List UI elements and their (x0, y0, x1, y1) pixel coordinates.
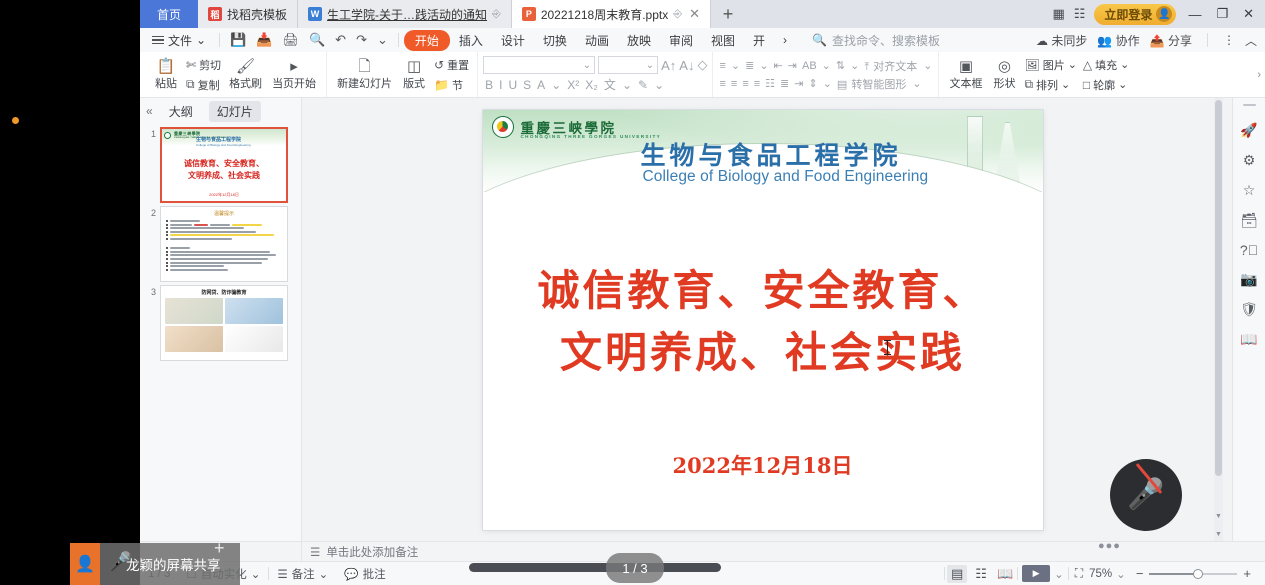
settings-sliders-icon[interactable]: ⚙ (1243, 152, 1256, 169)
tab-presentation-active[interactable]: P 20221218周末教育.pptx ⎆ ✕ (512, 0, 711, 28)
subscript-button[interactable]: X₂ (583, 78, 600, 92)
copy-button[interactable]: ⧉ 复制 (183, 76, 224, 94)
ribbon-tab-developer[interactable]: 开 (744, 30, 774, 51)
close-tab-icon[interactable]: ✕ (687, 6, 700, 22)
thumb-title: 温馨提示 (161, 210, 287, 217)
collapse-ribbon-icon[interactable]: ︿ (1245, 32, 1257, 49)
arrange-label: 排列 (1036, 77, 1058, 93)
scroll-down-arrow-icon[interactable]: ▼ (1214, 512, 1223, 521)
chevron-down-icon: ⌄ (1068, 58, 1077, 71)
divider (1207, 33, 1208, 47)
print-preview-icon[interactable]: 🔍 (304, 32, 330, 48)
close-window-button[interactable]: ✕ (1240, 6, 1257, 22)
divider (1017, 567, 1018, 580)
chevron-down-icon[interactable]: ⌄ (549, 78, 563, 92)
right-tool-rail: 🚀 ⚙ ☆ 🗃 ?⃝ 📷 🛡 📖 (1232, 98, 1265, 541)
zoom-fill (1149, 573, 1199, 575)
scissors-icon: ✄ (186, 58, 196, 72)
indent-icon[interactable]: ⇥ (793, 77, 804, 90)
decrease-indent-icon[interactable]: ⇤ (773, 59, 784, 72)
page-indicator-badge: 1 / 3 (606, 553, 664, 583)
chevron-down-icon[interactable]: ⌄ (1050, 567, 1068, 581)
tab-slides[interactable]: 幻灯片 (209, 101, 261, 122)
text-direction-icon[interactable]: AB (801, 60, 818, 72)
slide-header-banner: 重慶三峡學院 CHONGQING THREE GORGES UNIVERSITY… (483, 110, 1043, 192)
font-name-select[interactable]: ⌄ (483, 56, 595, 74)
pictures-button[interactable]: 🖼 图片 ⌄ (1021, 56, 1079, 74)
format-painter-button[interactable]: 🖌 格式刷 (224, 57, 267, 93)
start-from-current-slide-button[interactable]: ▸ 当页开始 (267, 57, 321, 93)
shield-icon[interactable]: 🛡 (1240, 301, 1258, 318)
align-text-button[interactable]: ⤒ 对齐文本 (863, 58, 919, 74)
thumb-title: 诚信教育、安全教育、文明养成、社会实践 (162, 158, 286, 182)
comment-button[interactable]: 💬 批注 (336, 566, 393, 582)
text-box-icon: ▣ (959, 59, 973, 74)
tab-home-label: 首页 (157, 6, 181, 23)
paste-button[interactable]: 📋 粘贴 (149, 57, 183, 93)
zoom-out-button[interactable]: − (1136, 566, 1144, 581)
file-menu-button[interactable]: 文件 ⌄ (140, 32, 214, 49)
sort-icon[interactable]: ⇅ (835, 59, 846, 72)
tab-label: 找稻壳模板 (227, 6, 287, 23)
university-logo-icon (164, 132, 171, 139)
superscript-button[interactable]: X² (565, 78, 581, 92)
shapes-icon: ◎ (998, 59, 1011, 74)
chevron-down-icon: ⌄ (251, 567, 261, 581)
slide-surface[interactable]: 重慶三峡學院 CHONGQING THREE GORGES UNIVERSITY… (483, 110, 1043, 530)
apps-grid-icon[interactable]: ☷ (1074, 6, 1086, 22)
thumb-image (225, 326, 283, 352)
chevron-down-icon: ⌄ (1061, 78, 1070, 91)
zoom-in-button[interactable]: + (1243, 566, 1251, 581)
text-box-button[interactable]: ▣ 文本框 (944, 57, 987, 93)
layout-icon: ◫ (407, 59, 421, 74)
slide-number: 3 (144, 285, 156, 297)
menubar-right-actions: ☁ 未同步 👥 协作 📤 分享 ⋮ ︿ (1036, 32, 1265, 49)
ribbon-overflow-icon[interactable]: › (1257, 52, 1265, 97)
save-as-icon[interactable]: 📥 (251, 32, 277, 48)
format-painter-label: 格式刷 (229, 75, 262, 91)
zoom-level-label[interactable]: 75% (1089, 568, 1112, 580)
bullet-list-icon[interactable]: ≡ (718, 60, 726, 72)
notes-placeholder: 单击此处添加备注 (326, 544, 418, 560)
ribbon-group-font: ⌄ ⌄ A↑ A↓ ◇ B I U S (477, 52, 712, 97)
reset-button[interactable]: ↺ 重置 (431, 56, 472, 74)
outline-button[interactable]: □ 轮廓 ⌄ (1080, 76, 1132, 94)
wps-presentation-window: 首页 稻 找稻壳模板 W 生工学院-关于…践活动的通知 ⎆ P 20221218… (140, 0, 1265, 585)
align-right-icon[interactable]: ≡ (741, 78, 749, 90)
distribute-icon[interactable]: ☷ (764, 77, 776, 90)
new-tab-button[interactable]: + (711, 0, 745, 28)
new-slide-button[interactable]: 🗋 新建幻灯片 (332, 57, 397, 93)
chevron-down-icon[interactable]: ⌄ (822, 77, 833, 90)
list-item[interactable]: 3 防网贷、防诈骗教育 (140, 282, 301, 361)
clear-format-icon[interactable]: ◇ (697, 57, 707, 73)
screen-share-label: 龙颖的屏幕共享 (126, 554, 221, 574)
bold-button[interactable]: B (483, 78, 495, 92)
font-size-select[interactable]: ⌄ (598, 56, 658, 74)
horizontal-scrollbar-overlay[interactable] (469, 563, 721, 572)
paste-label: 粘贴 (155, 75, 177, 91)
slide-number: 2 (144, 206, 156, 218)
section-label: 节 (452, 77, 463, 93)
ribbon-tab-transition[interactable]: 切换 (534, 30, 576, 51)
text-cursor (887, 340, 888, 355)
share-button[interactable]: 📤 分享 (1150, 32, 1192, 49)
undo-icon[interactable]: ↶ (330, 32, 351, 48)
divider (219, 33, 220, 47)
ribbon-tab-design[interactable]: 设计 (492, 30, 534, 51)
reset-label: 重置 (447, 57, 469, 73)
comment-label: 批注 (363, 566, 386, 582)
user-avatar-icon: 👤 (70, 543, 100, 585)
zoom-slider[interactable]: − + (1130, 566, 1257, 581)
chevron-down-icon[interactable]: ⌄ (849, 59, 860, 72)
cut-label: 剪切 (199, 57, 221, 73)
tab-label: 20221218周末教育.pptx (541, 6, 668, 23)
chevron-down-icon[interactable]: ⌄ (652, 78, 666, 92)
microphone-muted-icon: 🎤 (1127, 480, 1164, 510)
thumb-college-name: 生物与食品工程学院College of Biology and Food Eng… (196, 136, 251, 147)
normal-view-icon[interactable]: ▤ (947, 565, 967, 583)
next-slide-arrow-icon[interactable]: ▼ (1214, 530, 1223, 539)
work-area: « 大纲 幻灯片 1 重慶三峡學院CHONGQING THREE GORGES … (140, 98, 1265, 585)
picture-icon: 🖼 (1024, 58, 1039, 72)
divider (398, 33, 399, 47)
rail-grip[interactable] (1243, 104, 1256, 106)
reading-view-icon[interactable]: 📖 (995, 565, 1015, 583)
college-name-en: College of Biology and Food Engineering (643, 168, 929, 186)
ribbon-toolbar: 📋 粘贴 ✄ 剪切 ⧉ 复制 🖌 格式刷 (140, 52, 1265, 98)
more-options-icon[interactable]: ⋮ (1223, 33, 1235, 47)
slide-thumbnail-3[interactable]: 防网贷、防诈骗教育 (160, 285, 288, 361)
hamburger-icon (152, 34, 164, 47)
italic-button[interactable]: I (497, 78, 504, 92)
ribbon-tab-review[interactable]: 审阅 (660, 30, 702, 51)
ribbon-tab-start[interactable]: 开始 (404, 30, 450, 51)
collapse-left-icon[interactable]: « (146, 104, 153, 118)
ribbon-group-paragraph: ≡ ⌄ ≣ ⌄ ⇤ ⇥ AB ⌄ ⇅ ⌄ ⤒ 对齐文本 ⌄ ≡ (712, 52, 938, 97)
ribbon-tab-insert[interactable]: 插入 (450, 30, 492, 51)
highlight-icon[interactable]: ✎ (636, 78, 650, 92)
slide-thumbnail-pane: « 大纲 幻灯片 1 重慶三峡學院CHONGQING THREE GORGES … (140, 98, 302, 541)
college-name-cn: 生物与食品工程学院 (641, 136, 902, 172)
status-bar-right: ▤ ☷ 📖 ▶ ⌄ ⛶ 75% ⌄ − (944, 565, 1265, 583)
thumbnail-pane-header: « 大纲 幻灯片 (140, 98, 301, 124)
chevron-down-icon: ⌄ (583, 60, 591, 71)
ribbon-group-clipboard: 📋 粘贴 ✄ 剪切 ⧉ 复制 🖌 格式刷 (144, 52, 326, 97)
reset-icon: ↺ (434, 58, 444, 72)
slide-number: 1 (144, 127, 156, 139)
maximize-button[interactable]: ❐ (1213, 6, 1231, 22)
split-view-icon[interactable]: ▦ (1052, 6, 1064, 22)
font-color-button[interactable]: A (535, 78, 547, 92)
notes-toggle-button[interactable]: ☰ 备注 ⌄ (269, 566, 336, 582)
copy-label: 复制 (198, 77, 220, 93)
canvas-vertical-scrollbar[interactable]: ▲ ▼ ▼ (1214, 98, 1223, 541)
chevron-down-icon[interactable]: ⌄ (821, 59, 832, 72)
microphone-icon[interactable]: 🎤 (108, 550, 132, 574)
zoom-track[interactable] (1149, 573, 1237, 575)
fit-to-window-icon[interactable]: ⛶ (1069, 566, 1089, 581)
arrange-icon: ⧉ (1024, 77, 1033, 92)
tab-label: 生工学院-关于…践活动的通知 (327, 6, 487, 23)
copy-icon: ⧉ (186, 77, 195, 92)
chevron-down-icon[interactable]: ⌄ (758, 59, 769, 72)
zoom-knob[interactable] (1193, 569, 1203, 579)
chevron-down-icon[interactable]: ⌄ (922, 59, 933, 72)
chevron-down-icon[interactable]: ⌄ (620, 78, 634, 92)
layout-label: 版式 (403, 75, 425, 91)
chevron-down-icon: ⌄ (646, 60, 654, 71)
fill-label: 填充 (1095, 57, 1117, 73)
chevron-down-icon: ⌄ (196, 33, 206, 47)
chevron-down-icon[interactable]: ⌄ (1112, 567, 1130, 581)
text-box-label: 文本框 (949, 75, 982, 91)
more-options-icon[interactable]: ●●● (1098, 540, 1121, 552)
desktop-backdrop-left (0, 0, 140, 585)
chevron-down-icon[interactable]: ⌄ (911, 77, 922, 90)
notification-dot (12, 117, 19, 124)
minimize-button[interactable]: — (1185, 7, 1204, 22)
section-icon: 📁 (434, 78, 449, 92)
file-menu-label: 文件 (168, 32, 192, 49)
login-button[interactable]: 立即登录 👤 (1094, 4, 1176, 25)
list-level-icon[interactable]: ≣ (779, 77, 790, 90)
slide-thumbnail-1[interactable]: 重慶三峡學院CHONGQING THREE GORGES UNIVERSITY … (160, 127, 288, 203)
screen-root: 首页 稻 找稻壳模板 W 生工学院-关于…践活动的通知 ⎆ P 20221218… (0, 0, 1265, 585)
thumb-image-grid (161, 296, 287, 354)
customize-quick-access-icon[interactable]: ⌄ (372, 32, 393, 48)
ribbon-tab-slideshow[interactable]: 放映 (618, 30, 660, 51)
brush-icon: 🖌 (236, 59, 255, 74)
word-doc-icon: W (308, 7, 322, 21)
fill-icon: △ (1083, 58, 1092, 72)
slide-thumbnail-2[interactable]: 温馨提示 (160, 206, 288, 282)
tab-notice-document[interactable]: W 生工学院-关于…践活动的通知 ⎆ (298, 0, 512, 28)
list-item[interactable]: 1 重慶三峡學院CHONGQING THREE GORGES UNIVERSIT… (140, 124, 301, 203)
tab-home[interactable]: 首页 (140, 0, 198, 28)
collaborate-button[interactable]: 👥 协作 (1097, 32, 1139, 49)
slide-canvas-area[interactable]: 重慶三峡學院 CHONGQING THREE GORGES UNIVERSITY… (302, 98, 1223, 541)
user-avatar-icon: 👤 (1156, 6, 1172, 22)
play-circle-icon: ▸ (290, 59, 298, 74)
shrink-font-icon[interactable]: A↓ (679, 58, 694, 73)
menu-bar: 文件 ⌄ 💾 📥 🖨 🔍 ↶ ↷ ⌄ 开始 插入 设计 切换 动画 放映 审阅 … (140, 28, 1265, 52)
notes-toggle-label: 备注 (292, 566, 315, 582)
new-slide-label: 新建幻灯片 (337, 75, 392, 91)
ribbon-tab-view[interactable]: 视图 (702, 30, 744, 51)
align-center-icon[interactable]: ≡ (730, 78, 738, 90)
align-left-icon[interactable]: ≡ (718, 78, 726, 90)
pin-icon[interactable]: ⎆ (492, 8, 501, 21)
thumb-title: 防网贷、防诈骗教育 (161, 289, 287, 296)
new-slide-icon: 🗋 (359, 59, 371, 74)
list-item[interactable]: 2 温馨提示 (140, 203, 301, 282)
grow-font-icon[interactable]: A↑ (661, 58, 676, 73)
slide-title-line-2: 文明养成、社会实践 (483, 322, 1043, 384)
microphone-muted-button[interactable]: 🎤 (1110, 459, 1182, 531)
pin-icon[interactable]: ⎆ (673, 8, 682, 21)
thumb-image (165, 298, 223, 324)
add-icon[interactable]: + (214, 538, 225, 559)
chevron-down-icon[interactable]: ⌄ (730, 59, 741, 72)
pictures-label: 图片 (1043, 57, 1065, 73)
login-label: 立即登录 (1104, 6, 1152, 23)
star-effects-icon[interactable]: ☆ (1243, 182, 1256, 199)
save-icon[interactable]: 💾 (225, 32, 251, 48)
comment-icon: 💬 (344, 567, 358, 581)
paste-icon: 📋 (157, 59, 176, 74)
chevron-down-icon: ⌄ (1118, 78, 1127, 91)
powerpoint-icon: P (522, 7, 536, 21)
image-tools-icon[interactable]: 📷 (1240, 271, 1257, 288)
underline-button[interactable]: U (506, 78, 519, 92)
notes-icon: ☰ (310, 545, 320, 559)
thumb-banner: 重慶三峡學院CHONGQING THREE GORGES UNIVERSITY … (162, 129, 286, 146)
ribbon-group-slides: 🗋 新建幻灯片 ◫ 版式 ↺ 重置 📁 节 (326, 52, 477, 97)
ribbon-group-drawing: ▣ 文本框 ◎ 形状 🖼 图片 ⌄ ⧉ 排列 ⌄ (938, 52, 1137, 97)
dock-template-icon: 稻 (208, 7, 222, 21)
screenshot-icon[interactable]: 🗃 (1240, 212, 1258, 229)
outline-icon: □ (1083, 78, 1090, 92)
sync-status[interactable]: ☁ 未同步 (1036, 32, 1087, 49)
start-from-current-label: 当页开始 (272, 75, 316, 91)
search-icon: 🔍 (812, 33, 827, 47)
redo-icon[interactable]: ↷ (351, 32, 372, 48)
print-icon[interactable]: 🖨 (277, 32, 304, 48)
tab-outline[interactable]: 大纲 (161, 101, 201, 122)
thumb-date: 2022年12月18日 (162, 192, 286, 198)
increase-indent-icon[interactable]: ⇥ (787, 59, 798, 72)
thumb-image (165, 326, 223, 352)
search-placeholder: 查找命令、搜索模板 (832, 32, 940, 49)
university-logo-icon (492, 116, 514, 138)
chevron-down-icon: ⌄ (1120, 58, 1129, 71)
notes-icon: ☰ (277, 567, 287, 581)
divider (944, 567, 945, 580)
ribbon-tabs-overflow-icon[interactable]: › (774, 31, 796, 49)
chevron-down-icon: ⌄ (319, 567, 329, 581)
shapes-button[interactable]: ◎ 形状 (987, 57, 1021, 93)
section-button[interactable]: 📁 节 (431, 76, 472, 94)
search-box[interactable]: 🔍 查找命令、搜索模板 (812, 32, 940, 49)
help-icon[interactable]: ?⃝ (1240, 242, 1258, 258)
window-controls-area: ▦ ☷ 立即登录 👤 — ❐ ✕ (1044, 0, 1265, 28)
fill-button[interactable]: △ 填充 ⌄ (1080, 56, 1132, 74)
numbered-list-icon[interactable]: ≣ (744, 59, 755, 72)
layout-button[interactable]: ◫ 版式 (397, 57, 431, 93)
line-spacing-icon[interactable]: ⇕ (807, 77, 818, 90)
scroll-thumb[interactable] (1215, 100, 1222, 476)
thumb-image (225, 298, 283, 324)
justify-icon[interactable]: ≡ (753, 78, 761, 90)
arrange-button[interactable]: ⧉ 排列 ⌄ (1021, 76, 1079, 94)
start-slideshow-button[interactable]: ▶ (1022, 565, 1050, 582)
shapes-label: 形状 (993, 75, 1015, 91)
smart-art-button[interactable]: ▤ 转智能图形 (836, 76, 908, 92)
tab-bar: 首页 稻 找稻壳模板 W 生工学院-关于…践活动的通知 ⎆ P 20221218… (140, 0, 1265, 28)
tab-dock-template[interactable]: 稻 找稻壳模板 (198, 0, 298, 28)
rocket-icon[interactable]: 🚀 (1240, 122, 1257, 139)
slide-title[interactable]: 诚信教育、安全教育、 文明养成、社会实践 (483, 260, 1043, 384)
phonetic-guide-button[interactable]: 文 (602, 76, 618, 93)
book-icon[interactable]: 📖 (1240, 331, 1257, 348)
outline-label: 轮廓 (1093, 77, 1115, 93)
ribbon-tab-animation[interactable]: 动画 (576, 30, 618, 51)
slide-sorter-icon[interactable]: ☷ (971, 565, 991, 583)
cut-button[interactable]: ✄ 剪切 (183, 56, 224, 74)
strikethrough-button[interactable]: S (521, 78, 533, 92)
slide-date[interactable]: 2022年12月18日 (483, 450, 1043, 480)
slide-title-line-1: 诚信教育、安全教育、 (483, 260, 1043, 322)
thumb-body (161, 217, 287, 271)
